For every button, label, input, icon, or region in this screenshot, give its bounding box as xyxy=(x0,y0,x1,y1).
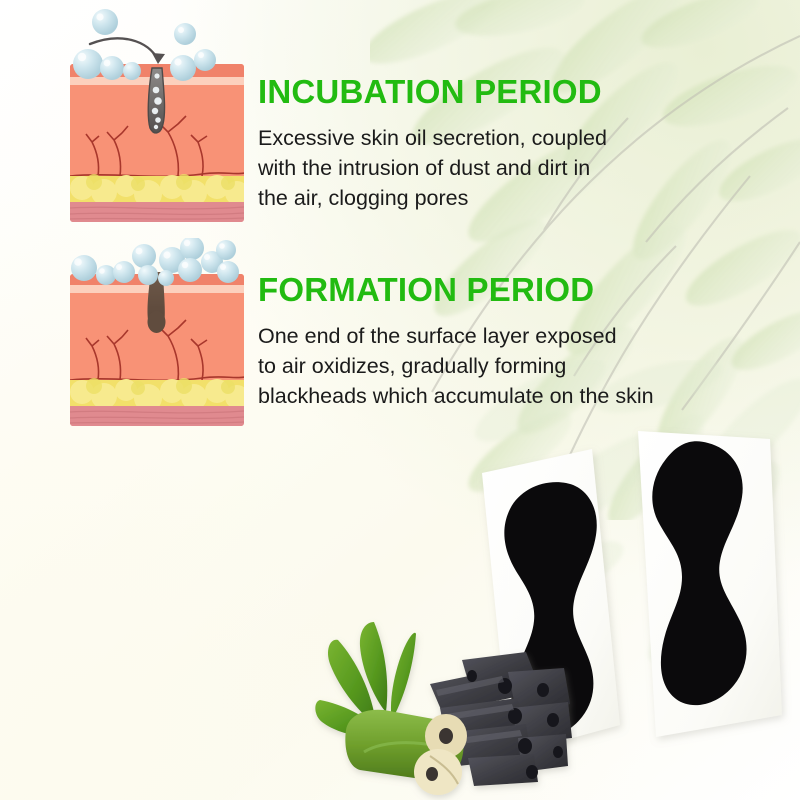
body-line: to air oxidizes, gradually forming xyxy=(258,351,698,381)
body-line: the air, clogging pores xyxy=(258,183,658,213)
body-line: One end of the surface layer exposed xyxy=(258,321,698,351)
bamboo-stalks xyxy=(345,710,467,795)
clogged-pore xyxy=(148,68,164,133)
text-block-incubation: INCUBATION PERIOD Excessive skin oil sec… xyxy=(258,74,658,213)
diagram-formation-period xyxy=(62,238,252,428)
body-formation-period: One end of the surface layer exposed to … xyxy=(258,321,698,411)
body-incubation-period: Excessive skin oil secretion, coupled wi… xyxy=(258,123,658,213)
ingredient-bamboo-charcoal xyxy=(312,612,577,800)
heading-formation-period: FORMATION PERIOD xyxy=(258,272,698,308)
heading-incubation-period: INCUBATION PERIOD xyxy=(258,74,658,110)
diagram-incubation-period xyxy=(62,6,252,224)
body-line: blackheads which accumulate on the skin xyxy=(258,381,698,411)
bamboo-cut-end-lower xyxy=(414,749,462,795)
infographic-page: INCUBATION PERIOD Excessive skin oil sec… xyxy=(0,0,800,800)
body-line: with the intrusion of dust and dirt in xyxy=(258,153,658,183)
text-block-formation: FORMATION PERIOD One end of the surface … xyxy=(258,272,698,411)
body-line: Excessive skin oil secretion, coupled xyxy=(258,123,658,153)
